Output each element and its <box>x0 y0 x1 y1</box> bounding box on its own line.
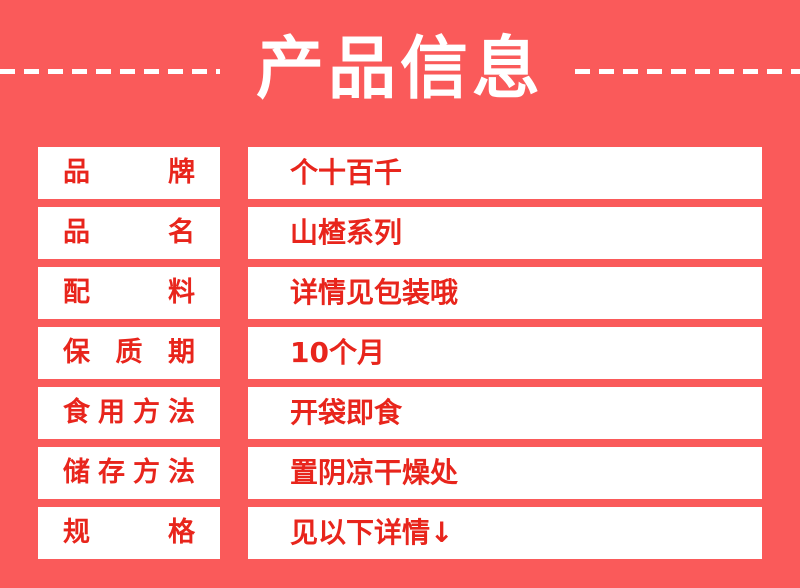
info-value-cell: 详情见包装哦 <box>248 267 762 319</box>
table-row: 品名 山楂系列 <box>38 207 762 259</box>
info-label-cell: 配料 <box>38 267 220 319</box>
info-value-cell: 开袋即食 <box>248 387 762 439</box>
info-label-cell: 食用方法 <box>38 387 220 439</box>
info-label-text: 品牌 <box>63 156 195 190</box>
info-label-text: 保质期 <box>63 336 195 370</box>
info-value-cell: 置阴凉干燥处 <box>248 447 762 499</box>
table-row: 规格 见以下详情↓ <box>38 507 762 559</box>
info-value-cell: 10个月 <box>248 327 762 379</box>
info-label-text: 食用方法 <box>63 396 195 430</box>
info-label-text: 品名 <box>63 216 195 250</box>
info-value-cell: 山楂系列 <box>248 207 762 259</box>
banner-header: 产品信息 <box>0 0 800 140</box>
info-label-cell: 品名 <box>38 207 220 259</box>
table-row: 配料 详情见包装哦 <box>38 267 762 319</box>
info-label-text: 配料 <box>63 276 195 310</box>
product-info-table: 品牌 个十百千 品名 山楂系列 配料 详情见包装哦 保质期 10个月 食用方法 <box>38 147 762 559</box>
info-label-text: 规格 <box>63 516 195 550</box>
table-row: 食用方法 开袋即食 <box>38 387 762 439</box>
table-row: 储存方法 置阴凉干燥处 <box>38 447 762 499</box>
table-row: 保质期 10个月 <box>38 327 762 379</box>
info-value-cell: 见以下详情↓ <box>248 507 762 559</box>
table-row: 品牌 个十百千 <box>38 147 762 199</box>
info-label-text: 储存方法 <box>63 456 195 490</box>
info-label-cell: 保质期 <box>38 327 220 379</box>
product-info-banner: 产品信息 品牌 个十百千 品名 山楂系列 配料 详情见包装哦 保质期 10 <box>0 0 800 588</box>
info-label-cell: 规格 <box>38 507 220 559</box>
info-value-cell: 个十百千 <box>248 147 762 199</box>
dashed-divider-right <box>575 69 800 74</box>
info-label-cell: 储存方法 <box>38 447 220 499</box>
info-label-cell: 品牌 <box>38 147 220 199</box>
